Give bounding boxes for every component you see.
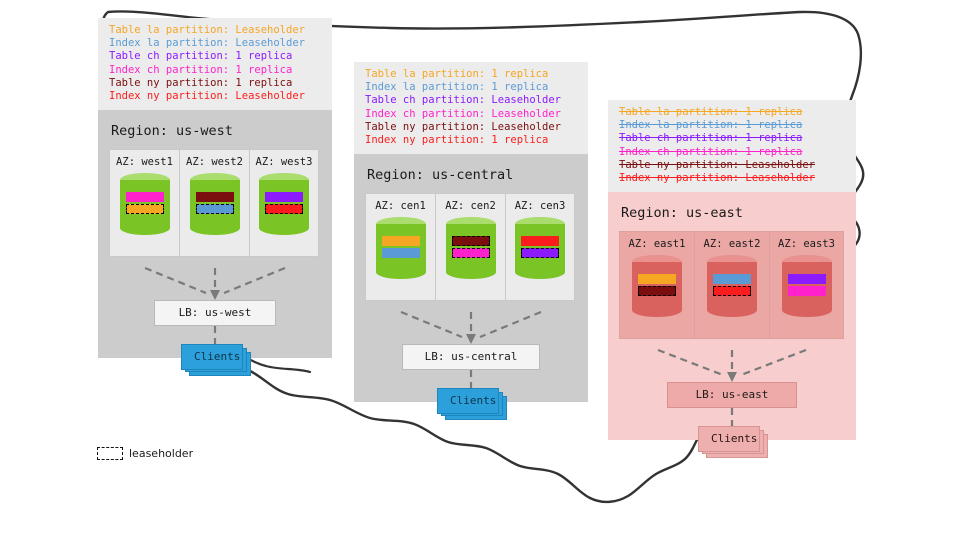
clients-box-us-west[interactable]: Clients	[181, 344, 243, 370]
region-title-us-west: Region: us-west	[111, 123, 321, 139]
database-cylinder-cen3[interactable]	[515, 217, 565, 279]
dashed-box-swatch	[97, 447, 123, 460]
connector-east1-lb	[658, 350, 723, 375]
partition-bars-cen2	[452, 236, 490, 260]
region-title-us-central: Region: us-central	[367, 167, 577, 183]
partition-bar-table-ny-leaseholder	[638, 286, 676, 296]
partition-bars-cen3	[521, 236, 559, 260]
load-balancer-us-east[interactable]: LB: us-east	[667, 382, 797, 408]
partition-bars-east2	[713, 274, 751, 298]
connector-arrowhead-us-west	[210, 290, 220, 300]
partition-bar-index-la-leaseholder	[196, 204, 234, 214]
az-label-east2: AZ: east2	[695, 238, 769, 250]
az-cell-cen1[interactable]: AZ: cen1	[365, 193, 435, 301]
az-label-west2: AZ: west2	[180, 156, 249, 168]
partition-bars-east1	[638, 274, 676, 298]
az-row-us-east: AZ: east1 AZ: east2 AZ: east3	[619, 231, 845, 339]
partition-bar-table-la-replica	[382, 236, 420, 246]
connector-west3-lb	[224, 268, 285, 293]
az-cell-east2[interactable]: AZ: east2	[694, 231, 769, 339]
connector-west1-lb	[145, 268, 206, 293]
partition-bar-table-ch-leaseholder	[521, 248, 559, 258]
clients-stack-us-central[interactable]: Clients	[437, 388, 507, 414]
az-cell-west1[interactable]: AZ: west1	[109, 149, 179, 257]
partition-summary-us-east: Table la partition: 1 replicaIndex la pa…	[608, 100, 856, 192]
connector-arrowhead-us-central	[466, 334, 476, 344]
partition-summary-line: Index ny partition: 1 replica	[365, 134, 579, 147]
partition-bar-index-ny-leaseholder	[265, 204, 303, 214]
region-panel-us-east[interactable]: Region: us-east AZ: east1 AZ: east2	[608, 192, 856, 440]
database-cylinder-cen2[interactable]	[446, 217, 496, 279]
partition-summary-line: Index la partition: Leaseholder	[109, 37, 323, 50]
database-cylinder-cen1[interactable]	[376, 217, 426, 279]
partition-summary-line: Table ny partition: Leaseholder	[619, 159, 847, 172]
partition-bars-east3	[788, 274, 826, 298]
partition-bar-index-ch-leaseholder	[452, 248, 490, 258]
partition-bars-cen1	[382, 236, 420, 260]
partition-summary-line: Index ch partition: Leaseholder	[365, 108, 579, 121]
load-balancer-us-west[interactable]: LB: us-west	[154, 300, 276, 326]
load-balancer-us-central[interactable]: LB: us-central	[402, 344, 540, 370]
connector-east3-lb	[741, 350, 806, 375]
az-row-us-central: AZ: cen1 AZ: cen2 AZ: cen3	[365, 193, 577, 301]
database-cylinder-east2[interactable]	[707, 255, 757, 317]
partition-summary-us-west: Table la partition: LeaseholderIndex la …	[98, 18, 332, 110]
partition-summary-line: Index ny partition: Leaseholder	[619, 172, 847, 185]
clients-stack-us-west[interactable]: Clients	[181, 344, 251, 370]
connector-cen3-lb	[480, 312, 541, 337]
leaseholder-legend: leaseholder	[97, 447, 193, 460]
partition-bar-index-ny-leaseholder	[713, 286, 751, 296]
partition-bar-table-ch-replica	[788, 274, 826, 284]
region-cluster-us-central: Table la partition: 1 replicaIndex la pa…	[354, 62, 588, 402]
region-cluster-us-west: Table la partition: LeaseholderIndex la …	[98, 18, 332, 358]
partition-bars-west1	[126, 192, 164, 216]
partition-summary-line: Table ch partition: 1 replica	[619, 132, 847, 145]
partition-summary-line: Table ny partition: Leaseholder	[365, 121, 579, 134]
az-label-cen2: AZ: cen2	[436, 200, 505, 212]
partition-summary-line: Table ch partition: 1 replica	[109, 50, 323, 63]
partition-bars-west3	[265, 192, 303, 216]
connector-cen1-lb	[401, 312, 462, 337]
region-cluster-us-east: Table la partition: 1 replicaIndex la pa…	[608, 100, 856, 440]
az-label-west1: AZ: west1	[110, 156, 179, 168]
az-label-east3: AZ: east3	[770, 238, 843, 250]
clients-box-us-east[interactable]: Clients	[698, 426, 760, 452]
partition-bar-table-ny-replica	[196, 192, 234, 202]
az-cell-cen3[interactable]: AZ: cen3	[505, 193, 575, 301]
database-cylinder-west2[interactable]	[190, 173, 240, 235]
database-cylinder-east1[interactable]	[632, 255, 682, 317]
partition-bar-table-ch-replica	[265, 192, 303, 202]
leaseholder-legend-label: leaseholder	[129, 447, 193, 460]
partition-bar-index-la-replica	[382, 248, 420, 258]
partition-summary-line: Index ny partition: Leaseholder	[109, 90, 323, 103]
az-label-east1: AZ: east1	[620, 238, 694, 250]
database-cylinder-east3[interactable]	[782, 255, 832, 317]
az-label-west3: AZ: west3	[250, 156, 318, 168]
connector-arrowhead-us-east	[727, 372, 737, 382]
partition-summary-line: Table la partition: 1 replica	[619, 106, 847, 119]
az-label-cen3: AZ: cen3	[506, 200, 574, 212]
partition-bar-index-ch-replica	[788, 286, 826, 296]
partition-summary-line: Index la partition: 1 replica	[365, 81, 579, 94]
partition-summary-line: Table ch partition: Leaseholder	[365, 94, 579, 107]
az-row-us-west: AZ: west1 AZ: west2 AZ: west3	[109, 149, 321, 257]
region-title-us-east: Region: us-east	[621, 205, 845, 221]
partition-summary-line: Table ny partition: 1 replica	[109, 77, 323, 90]
partition-bar-table-la-leaseholder	[126, 204, 164, 214]
partition-summary-line: Index la partition: 1 replica	[619, 119, 847, 132]
partition-summary-line: Table la partition: 1 replica	[365, 68, 579, 81]
az-cell-east3[interactable]: AZ: east3	[769, 231, 844, 339]
database-cylinder-west3[interactable]	[259, 173, 309, 235]
partition-bar-index-ch-replica	[126, 192, 164, 202]
az-cell-west3[interactable]: AZ: west3	[249, 149, 319, 257]
database-cylinder-west1[interactable]	[120, 173, 170, 235]
az-cell-east1[interactable]: AZ: east1	[619, 231, 694, 339]
partition-summary-line: Index ch partition: 1 replica	[619, 146, 847, 159]
partition-summary-line: Table la partition: Leaseholder	[109, 24, 323, 37]
partition-bar-table-ny-leaseholder	[452, 236, 490, 246]
partition-bars-west2	[196, 192, 234, 216]
az-cell-cen2[interactable]: AZ: cen2	[435, 193, 505, 301]
clients-box-us-central[interactable]: Clients	[437, 388, 499, 414]
region-panel-us-central[interactable]: Region: us-central AZ: cen1 AZ: cen2	[354, 154, 588, 402]
az-label-cen1: AZ: cen1	[366, 200, 435, 212]
partition-bar-index-la-replica	[713, 274, 751, 284]
az-cell-west2[interactable]: AZ: west2	[179, 149, 249, 257]
partition-summary-us-central: Table la partition: 1 replicaIndex la pa…	[354, 62, 588, 154]
partition-summary-line: Index ch partition: 1 replica	[109, 64, 323, 77]
clients-stack-us-east[interactable]: Clients	[698, 426, 768, 452]
region-panel-us-west[interactable]: Region: us-west AZ: west1 AZ: west2	[98, 110, 332, 358]
partition-bar-table-la-replica	[638, 274, 676, 284]
partition-bar-index-ny-replica	[521, 236, 559, 246]
